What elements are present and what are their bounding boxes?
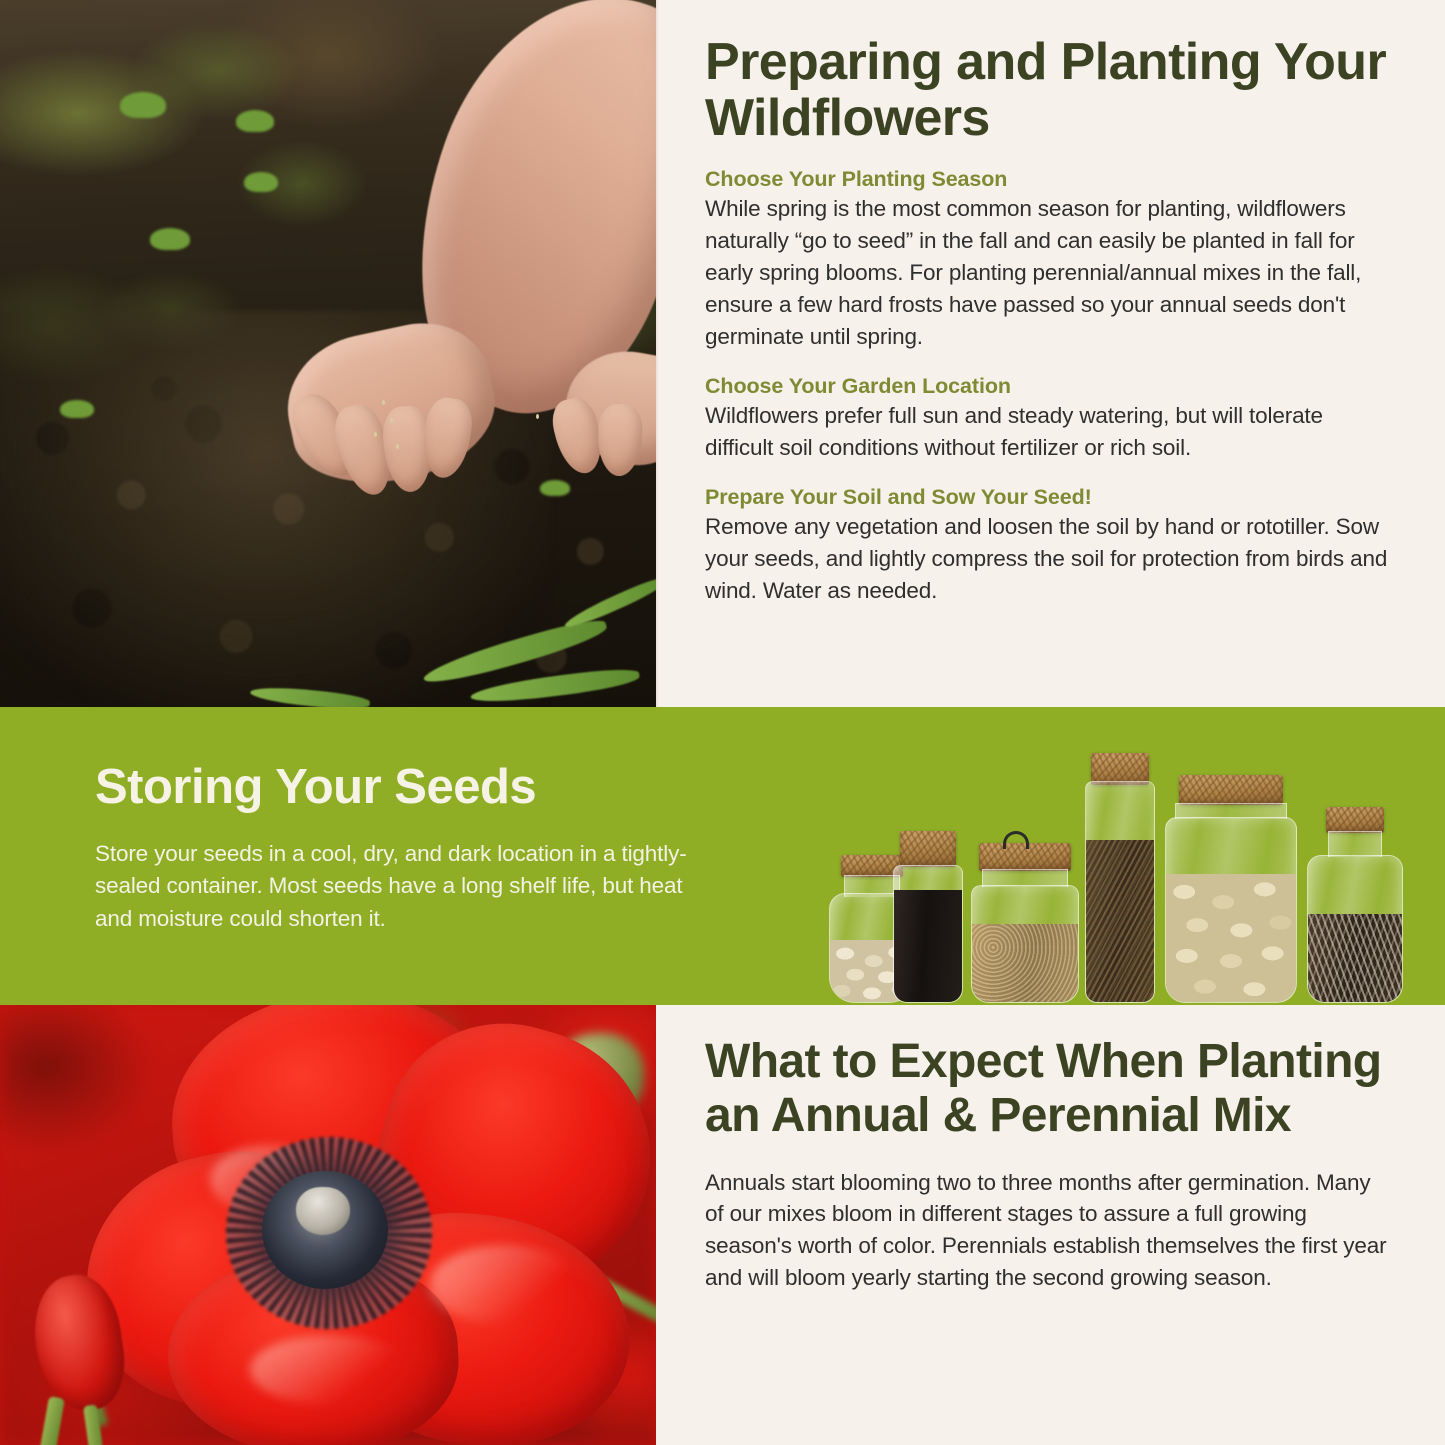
subhead-garden-location: Choose Your Garden Location bbox=[705, 374, 1390, 399]
column-divider bbox=[656, 0, 658, 707]
storing-body: Store your seeds in a cool, dry, and dar… bbox=[95, 838, 715, 935]
page-title: Preparing and Planting Your Wildflowers bbox=[705, 34, 1390, 146]
block-prepare-soil: Prepare Your Soil and Sow Your Seed! Rem… bbox=[705, 485, 1390, 607]
jar-neck bbox=[1328, 831, 1382, 857]
cork-lid-icon bbox=[1179, 775, 1283, 805]
jar-glass bbox=[1085, 781, 1155, 1003]
body-planting-season: While spring is the most common season f… bbox=[705, 193, 1390, 353]
sprout-icon bbox=[244, 172, 278, 192]
body-garden-location: Wildflowers prefer full sun and steady w… bbox=[705, 400, 1390, 464]
seed-pod bbox=[296, 1187, 350, 1235]
sprout-icon bbox=[60, 400, 94, 418]
jar-contents-black-seed bbox=[894, 890, 962, 1002]
jar-glass bbox=[1307, 855, 1403, 1003]
what-to-expect-body: Annuals start blooming two to three mont… bbox=[705, 1167, 1390, 1295]
falling-seed bbox=[390, 418, 393, 423]
body-prepare-soil: Remove any vegetation and loosen the soi… bbox=[705, 511, 1390, 607]
section-storing-your-seeds: Storing Your Seeds Store your seeds in a… bbox=[0, 707, 1445, 1005]
jar-pumpkin-seeds bbox=[1165, 775, 1297, 1003]
jar-brown-millet bbox=[971, 843, 1079, 1003]
subhead-planting-season: Choose Your Planting Season bbox=[705, 167, 1390, 192]
section-what-to-expect: What to Expect When Planting an Annual &… bbox=[0, 1005, 1445, 1445]
what-to-expect-heading: What to Expect When Planting an Annual &… bbox=[705, 1035, 1390, 1143]
jar-contents-brown-millet bbox=[972, 924, 1078, 1002]
section-preparing-and-planting: Preparing and Planting Your Wildflowers … bbox=[0, 0, 1445, 707]
cork-lid-icon bbox=[900, 831, 956, 867]
jar-contents-sunflower-seeds bbox=[1308, 914, 1402, 1002]
sprout-icon bbox=[236, 110, 274, 132]
falling-seed bbox=[382, 400, 385, 405]
sprout-icon bbox=[120, 92, 166, 118]
jar-black-seed bbox=[893, 831, 963, 1003]
storing-heading: Storing Your Seeds bbox=[95, 759, 536, 815]
wildflower-planting-infographic: Preparing and Planting Your Wildflowers … bbox=[0, 0, 1445, 1445]
jar-glass bbox=[1165, 817, 1297, 1003]
petal-highlight bbox=[430, 1245, 580, 1325]
jar-contents-pumpkin-seeds bbox=[1166, 874, 1296, 1002]
jar-handle-loop bbox=[1003, 831, 1029, 849]
jar-dark-cracked-seed bbox=[1085, 753, 1155, 1003]
sprout-icon bbox=[150, 228, 190, 250]
what-to-expect-text-column: What to Expect When Planting an Annual &… bbox=[656, 1005, 1445, 1445]
falling-seed bbox=[536, 414, 539, 419]
jar-sunflower-seeds bbox=[1307, 807, 1403, 1003]
seed-jars-photo bbox=[829, 735, 1429, 1003]
jar-glass bbox=[971, 885, 1079, 1003]
block-planting-season: Choose Your Planting Season While spring… bbox=[705, 167, 1390, 353]
block-garden-location: Choose Your Garden Location Wildflowers … bbox=[705, 374, 1390, 464]
sprout-icon bbox=[540, 480, 570, 496]
petal-highlight bbox=[250, 1335, 410, 1405]
falling-seed bbox=[396, 444, 399, 449]
falling-seed bbox=[374, 432, 377, 437]
subhead-prepare-soil: Prepare Your Soil and Sow Your Seed! bbox=[705, 485, 1390, 510]
cork-lid-icon bbox=[1326, 807, 1384, 833]
hand-sowing-seeds-photo bbox=[0, 0, 656, 707]
red-poppy-photo bbox=[0, 1005, 656, 1445]
jar-glass bbox=[893, 865, 963, 1003]
jar-contents-dark-cracked-seed bbox=[1086, 840, 1154, 1002]
preparing-text-column: Preparing and Planting Your Wildflowers … bbox=[656, 0, 1445, 707]
